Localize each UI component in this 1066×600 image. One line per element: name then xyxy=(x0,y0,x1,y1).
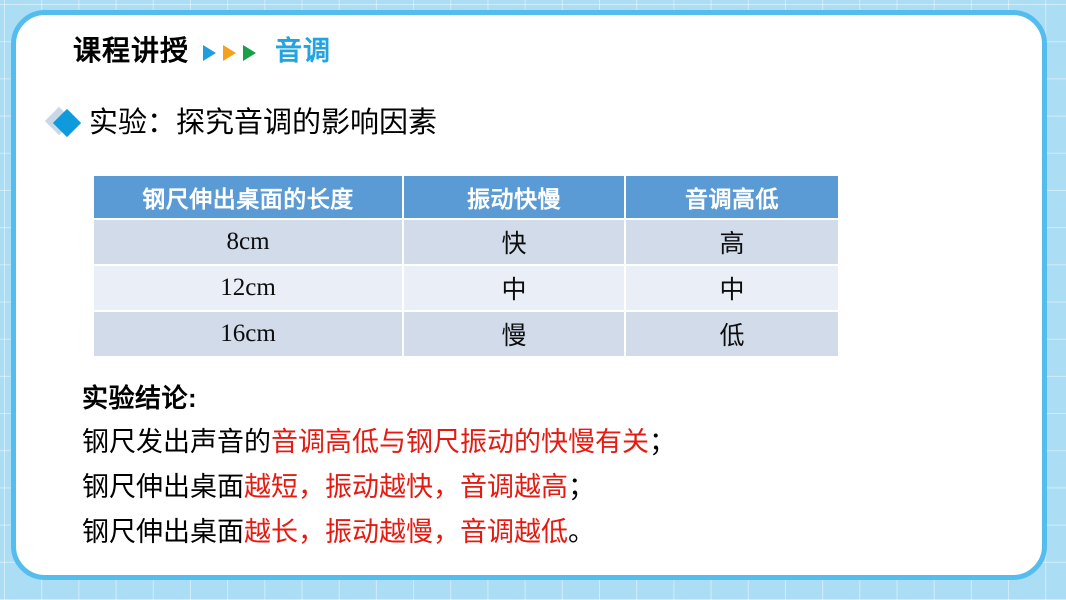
conclusion-line-3-prefix: 钢尺伸出桌面 xyxy=(82,517,244,547)
conclusion-title: 实验结论: xyxy=(82,376,982,420)
conclusion-line-1-highlight: 音调高低与钢尺振动的快慢有关 xyxy=(271,427,649,457)
arrow-group xyxy=(203,45,263,61)
cell-pitch: 高 xyxy=(626,220,838,264)
triangle-right-icon-orange xyxy=(223,45,236,61)
conclusion-line-2-prefix: 钢尺伸出桌面 xyxy=(82,472,244,502)
triangle-right-icon-blue xyxy=(203,45,216,61)
cell-vibration: 慢 xyxy=(404,312,624,356)
slide-panel: 课程讲授 音调 实验：探究音调的影响因素 钢尺伸出桌面的长度 xyxy=(11,10,1047,580)
conclusion-line-3-suffix: 。 xyxy=(568,517,595,547)
experiment-subheading: 实验：探究音调的影响因素 xyxy=(45,100,437,146)
cell-vibration: 中 xyxy=(404,266,624,310)
conclusion-block: 实验结论: 钢尺发出声音的音调高低与钢尺振动的快慢有关； 钢尺伸出桌面越短，振动… xyxy=(82,376,982,555)
conclusion-line-1-suffix: ； xyxy=(649,427,676,457)
column-header-pitch: 音调高低 xyxy=(626,176,838,218)
conclusion-line-1: 钢尺发出声音的音调高低与钢尺振动的快慢有关； xyxy=(82,420,982,465)
table-row: 16cm 慢 低 xyxy=(94,312,838,356)
conclusion-line-1-prefix: 钢尺发出声音的 xyxy=(82,427,271,457)
cell-length: 16cm xyxy=(94,312,402,356)
slide-background: 课程讲授 音调 实验：探究音调的影响因素 钢尺伸出桌面的长度 xyxy=(0,0,1066,600)
table-row: 12cm 中 中 xyxy=(94,266,838,310)
conclusion-line-3: 钢尺伸出桌面越长，振动越慢，音调越低。 xyxy=(82,510,982,555)
slide-header: 课程讲授 音调 xyxy=(73,29,331,73)
conclusion-line-2-highlight: 越短，振动越快，音调越高 xyxy=(244,472,568,502)
column-header-length: 钢尺伸出桌面的长度 xyxy=(94,176,402,218)
cell-length: 12cm xyxy=(94,266,402,310)
section-topic: 音调 xyxy=(275,38,331,65)
table-row: 8cm 快 高 xyxy=(94,220,838,264)
section-kicker: 课程讲授 xyxy=(73,37,189,65)
cell-length: 8cm xyxy=(94,220,402,264)
table-header: 钢尺伸出桌面的长度 振动快慢 音调高低 xyxy=(94,176,838,218)
diamond-bullet-icon xyxy=(45,106,85,140)
conclusion-line-3-highlight: 越长，振动越慢，音调越低 xyxy=(244,517,568,547)
experiment-subheading-label: 实验：探究音调的影响因素 xyxy=(89,109,437,138)
triangle-right-icon-green xyxy=(243,45,256,61)
cell-pitch: 中 xyxy=(626,266,838,310)
column-header-vibration: 振动快慢 xyxy=(404,176,624,218)
conclusion-line-2-suffix: ； xyxy=(568,472,595,502)
table-body: 8cm 快 高 12cm 中 中 16cm 慢 低 xyxy=(94,220,838,356)
table-header-row: 钢尺伸出桌面的长度 振动快慢 音调高低 xyxy=(94,176,838,218)
cell-pitch: 低 xyxy=(626,312,838,356)
cell-vibration: 快 xyxy=(404,220,624,264)
conclusion-line-2: 钢尺伸出桌面越短，振动越快，音调越高； xyxy=(82,465,982,510)
experiment-table: 钢尺伸出桌面的长度 振动快慢 音调高低 8cm 快 高 12cm 中 中 16c… xyxy=(92,174,840,358)
